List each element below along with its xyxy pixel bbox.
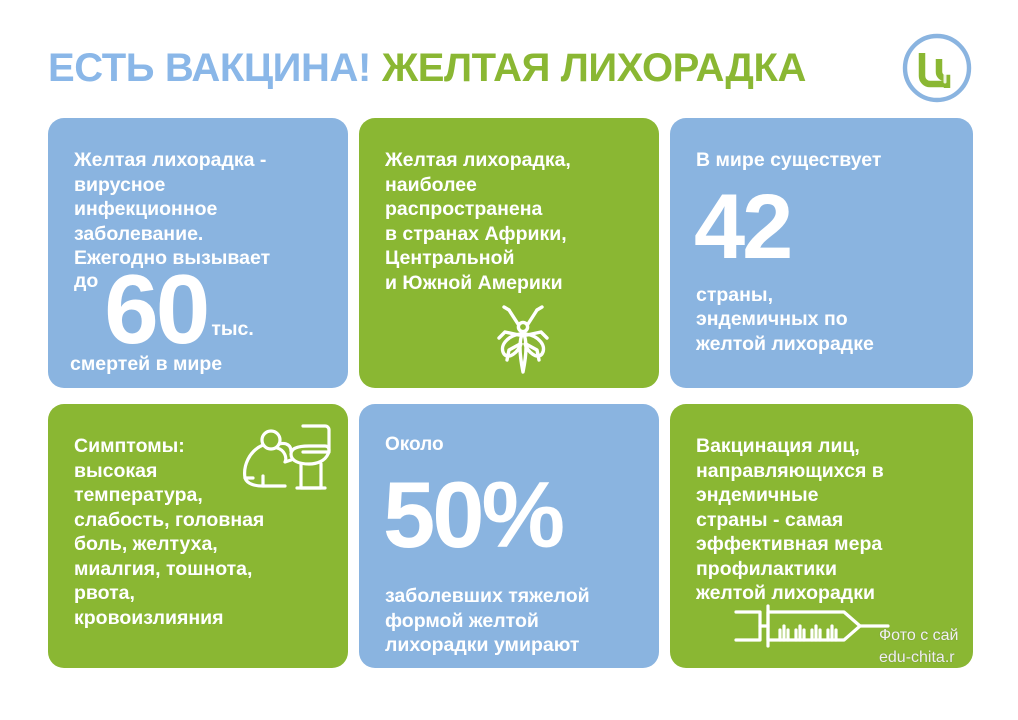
- card-virus-deaths-number-suffix: тыс.: [211, 318, 253, 351]
- card-virus-deaths-number-prefix: до: [74, 269, 98, 352]
- vomiting-person-toilet-icon: [229, 418, 334, 498]
- card-mortality-lead: Около: [385, 434, 637, 456]
- card-endemic-countries-lead: В мире существует: [696, 148, 951, 173]
- card-virus-deaths-tail: смертей в мире: [70, 353, 326, 376]
- card-vaccination-body: Вакцинация лиц, направляющихся в эндемич…: [696, 434, 951, 606]
- card-endemic-countries-tail: страны, эндемичных по желтой лихорадке: [696, 283, 951, 357]
- card-endemic-countries-number: 42: [694, 181, 951, 273]
- watermark-line-2: edu-chita.r: [879, 647, 1018, 669]
- mosquito-icon: [487, 302, 559, 376]
- card-mortality: Около 50% заболевших тяжелой формой желт…: [359, 404, 659, 668]
- logo-icon: [901, 32, 973, 104]
- header: ЕСТЬ ВАКЦИНА! ЖЕЛТАЯ ЛИХОРАДКА: [0, 34, 1018, 102]
- card-mortality-tail: заболевших тяжелой формой желтой лихорад…: [385, 584, 637, 658]
- watermark-line-1: Фото с сай: [879, 625, 1018, 647]
- page-title-part2: ЖЕЛТАЯ ЛИХОРАДКА: [382, 48, 806, 88]
- card-symptoms: Симптомы: высокая температура, слабость,…: [48, 404, 348, 668]
- card-mortality-number: 50%: [383, 468, 637, 562]
- card-distribution: Желтая лихорадка, наиболее распространен…: [359, 118, 659, 388]
- infographic-page: ЕСТЬ ВАКЦИНА! ЖЕЛТАЯ ЛИХОРАДКА Желтая ли…: [0, 0, 1018, 720]
- syringe-icon: [732, 600, 892, 652]
- card-virus-deaths-body: Желтая лихорадка - вирусное инфекционное…: [74, 148, 326, 271]
- card-distribution-body: Желтая лихорадка, наиболее распространен…: [385, 148, 637, 295]
- card-virus-deaths-number-line: до 60 тыс.: [74, 268, 326, 351]
- page-title-part1: ЕСТЬ ВАКЦИНА!: [48, 48, 371, 88]
- card-virus-deaths: Желтая лихорадка - вирусное инфекционное…: [48, 118, 348, 388]
- card-grid: Желтая лихорадка - вирусное инфекционное…: [48, 118, 973, 668]
- card-virus-deaths-number: 60: [104, 268, 207, 351]
- watermark: Фото с сай edu-chita.r: [879, 625, 1018, 668]
- card-endemic-countries: В мире существует 42 страны, эндемичных …: [670, 118, 973, 388]
- page-title: ЕСТЬ ВАКЦИНА! ЖЕЛТАЯ ЛИХОРАДКА: [48, 48, 806, 88]
